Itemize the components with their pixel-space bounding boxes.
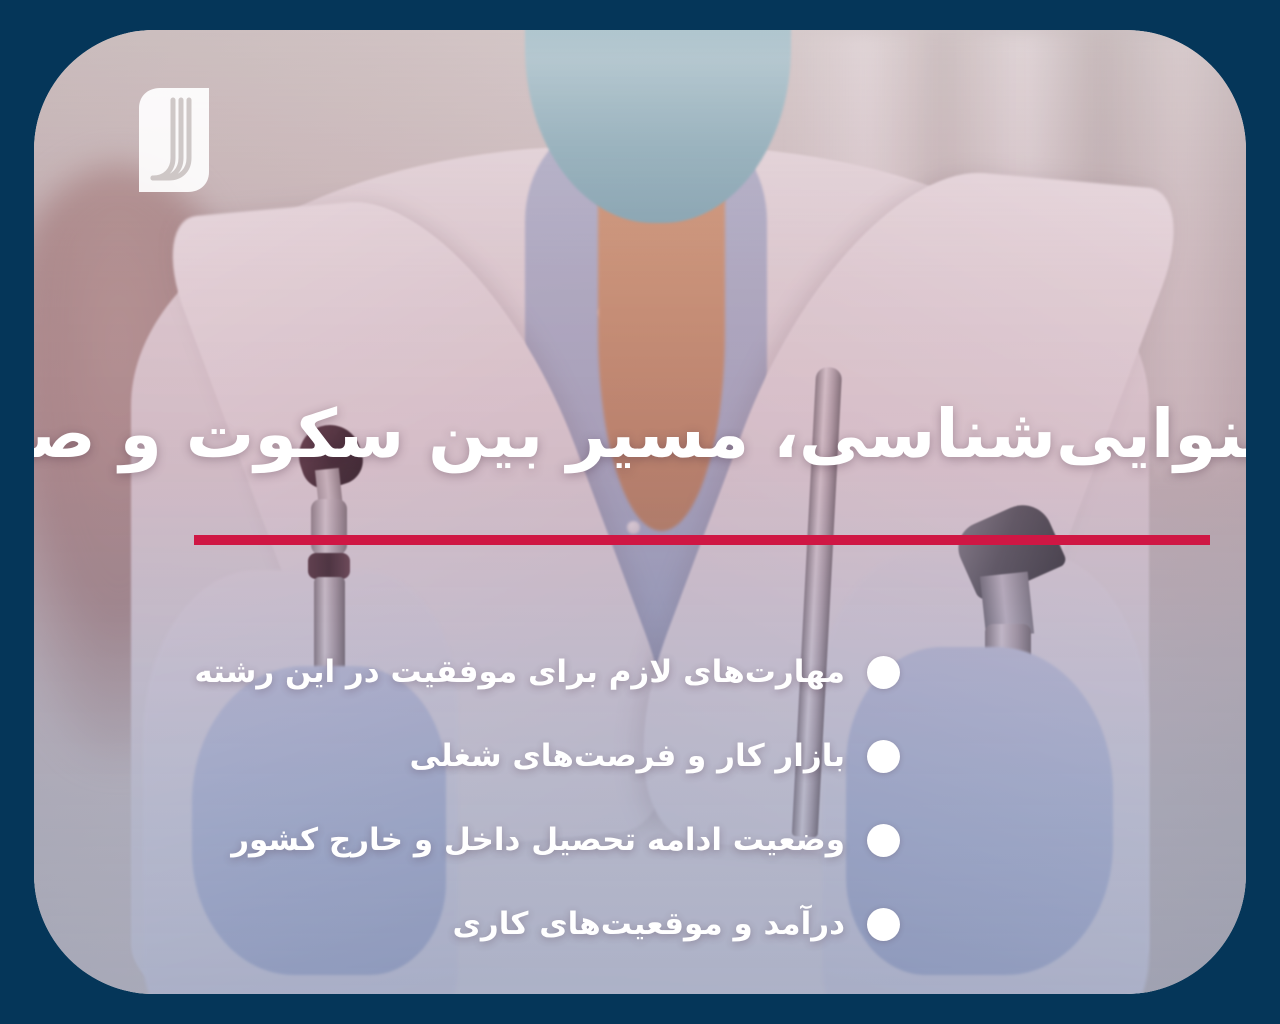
- page-title-text: شنوایی‌شناسی، مسیر بین سکوت و صدا: [34, 398, 1246, 472]
- list-item-label: بازار کار و فرصت‌های شغلی: [410, 738, 845, 774]
- page-title: شنوایی‌شناسی، مسیر بین سکوت و صدا: [94, 385, 1186, 485]
- list-item-label: وضعیت ادامه تحصیل داخل و خارج کشور: [231, 822, 845, 858]
- logo-mark-icon: [131, 86, 217, 194]
- bullet-dot-icon: [867, 740, 900, 773]
- list-item: مهارت‌های لازم برای موفقیت در این رشته: [94, 630, 1186, 714]
- list-item-label: مهارت‌های لازم برای موفقیت در این رشته: [194, 654, 845, 690]
- poster-canvas: شنوایی‌شناسی، مسیر بین سکوت و صدا مهارت‌…: [0, 0, 1280, 1024]
- title-divider: [194, 535, 1210, 545]
- list-item: درآمد و موقعیت‌های کاری: [94, 882, 1186, 966]
- list-item-label: درآمد و موقعیت‌های کاری: [453, 906, 846, 942]
- bullet-dot-icon: [867, 656, 900, 689]
- photo-card: شنوایی‌شناسی، مسیر بین سکوت و صدا مهارت‌…: [34, 30, 1246, 994]
- list-item: بازار کار و فرصت‌های شغلی: [94, 714, 1186, 798]
- bullet-dot-icon: [867, 824, 900, 857]
- feature-list: مهارت‌های لازم برای موفقیت در این رشته ب…: [94, 630, 1186, 966]
- bullet-dot-icon: [867, 908, 900, 941]
- list-item: وضعیت ادامه تحصیل داخل و خارج کشور: [94, 798, 1186, 882]
